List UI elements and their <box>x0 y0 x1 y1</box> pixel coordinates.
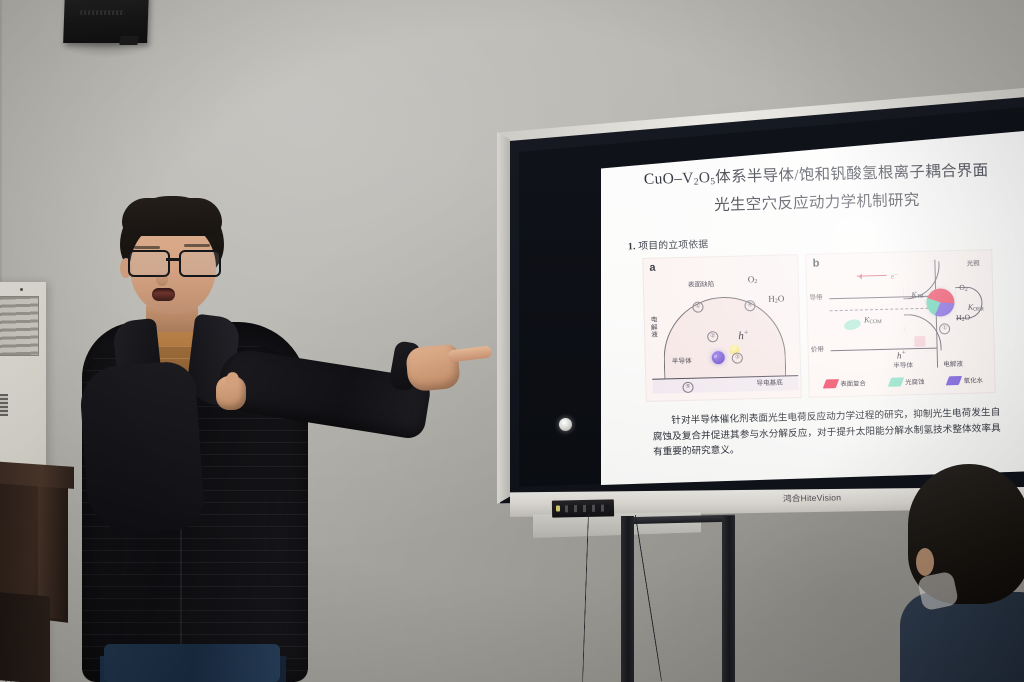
presenter-fringe <box>122 198 222 236</box>
h2o-label-a: H2O <box>768 293 784 304</box>
semiconductor-dome <box>662 295 786 381</box>
legend-item: 表面复合 <box>824 378 866 388</box>
air-conditioner-vent <box>0 296 39 356</box>
legend-item: 光腐蚀 <box>889 376 924 386</box>
k-oer-label: KOER <box>968 302 984 312</box>
figure-b-legend: 表面复合 光腐蚀 氧化水 <box>812 370 994 393</box>
k-com-label: KCOM <box>864 315 882 325</box>
section-label: 项目的立项依据 <box>638 239 708 252</box>
power-led-icon <box>556 505 560 511</box>
display-brand-logo: 鸿合HiteVision <box>783 491 841 504</box>
hole-label-b: h+ <box>897 348 907 360</box>
stand-leg-right <box>722 516 735 682</box>
legend-item: 氧化水 <box>948 375 983 385</box>
air-conditioner-badge <box>0 394 8 416</box>
presenter-jeans <box>104 644 280 682</box>
presenter-nose <box>156 272 168 286</box>
title-formula-pre: CuO–V <box>644 170 694 188</box>
hole-plus-b: + <box>901 348 906 356</box>
panel-left-side <box>497 132 510 504</box>
slide-section-heading: 1. 项目的立项依据 <box>628 236 709 252</box>
title-formula-mid: O <box>699 169 711 186</box>
glasses-bridge <box>166 258 179 261</box>
light-label: 光照 <box>967 260 980 268</box>
control-buttons[interactable] <box>565 505 609 513</box>
brand-cn: 鸿合 <box>783 493 801 503</box>
ir-sensor-icon <box>559 418 572 431</box>
figure-b-label: b <box>812 258 819 270</box>
presenter <box>76 196 336 682</box>
k-oer-sub: OER <box>973 306 984 312</box>
stand-leg-left <box>621 516 634 682</box>
legend-chip-recombination <box>823 379 839 388</box>
semiconductor-label-b: 半导体 <box>893 362 913 370</box>
speaker-grille-icon <box>80 10 124 15</box>
legend-label-photocorrosion: 光腐蚀 <box>905 376 924 385</box>
figure-b: b 导带 价带 半导体 <box>805 249 995 398</box>
audience-member <box>900 456 1024 682</box>
audience-ear <box>916 548 934 576</box>
hole-plus: + <box>744 328 749 336</box>
projected-slide: CuO–V2O5体系半导体/饱和钒酸氢根离子耦合界面 光生空穴反应动力学机制研究… <box>601 131 1024 485</box>
section-number: 1. <box>628 241 636 252</box>
semiconductor-label-a: 半导体 <box>672 358 692 366</box>
slide-title-line2: 光生空穴反应动力学机制研究 <box>714 192 920 214</box>
substrate-label: 导电基底 <box>756 379 783 387</box>
glasses-icon <box>126 250 222 274</box>
hole-label-a: h+ <box>738 328 749 342</box>
slide-title: CuO–V2O5体系半导体/饱和钒酸氢根离子耦合界面 光生空穴反应动力学机制研究 <box>630 157 1003 222</box>
step-marker-b1: ① <box>939 323 950 334</box>
figure-group: a 表面缺陷 电解液 半导体 导电基底 O2 H2O h+ e ① ② <box>642 249 995 400</box>
air-conditioner-indicator <box>20 288 23 291</box>
eyebrow-right <box>184 244 210 247</box>
conduction-band-label: 导带 <box>809 294 822 302</box>
valence-band-label: 价带 <box>811 346 824 354</box>
speaker-bracket <box>119 36 138 45</box>
o2-sub-b: 2 <box>965 287 968 293</box>
k-tr-label: KTR <box>911 290 923 300</box>
o2-sub: 2 <box>754 279 757 285</box>
recombination-blob <box>914 336 925 347</box>
presentation-room-photo: CuO–V2O5体系半导体/饱和钒酸氢根离子耦合界面 光生空穴反应动力学机制研究… <box>0 0 1024 682</box>
figure-a: a 表面缺陷 电解液 半导体 导电基底 O2 H2O h+ e ① ② <box>642 254 802 402</box>
k-tr-sub: TR <box>917 294 924 300</box>
pathway-pie-chart <box>926 288 955 317</box>
figure-a-label: a <box>649 262 655 274</box>
o2-label-b: O2 <box>959 283 968 293</box>
presenter-mouth <box>152 288 175 301</box>
podium-lower <box>0 591 50 682</box>
legend-chip-wateroxidation <box>946 375 962 384</box>
o2-label-a: O2 <box>748 274 758 285</box>
title-text-post: 体系半导体/饱和钒酸氢根离子耦合界面 <box>715 162 989 186</box>
audience-shoulders <box>900 592 1024 682</box>
presenter-left-arm <box>78 360 205 536</box>
h2o-label-b: H2O <box>956 313 970 323</box>
photocorrosion-blob <box>843 318 862 332</box>
brand-en: HiteVision <box>800 492 841 503</box>
legend-label-wateroxidation: 氧化水 <box>964 375 983 384</box>
h2o-o: O <box>778 293 785 303</box>
h2o-o-b: O <box>964 313 970 322</box>
slide-paragraph: 针对半导体催化剂表面光生电荷反应动力学过程的研究，抑制光生电荷发生自腐蚀及复合并… <box>652 405 1001 460</box>
electron-symbol: e <box>714 353 717 360</box>
eyebrow-left <box>134 246 160 249</box>
electron-label-b: e⁻ <box>891 273 898 282</box>
legend-label-recombination: 表面复合 <box>840 378 866 388</box>
display-control-panel[interactable] <box>552 499 614 517</box>
surface-defect-label: 表面缺陷 <box>688 281 715 289</box>
speaker-shadow <box>56 42 156 58</box>
electrolyte-label-b: 电解液 <box>943 361 963 369</box>
legend-chip-photocorrosion <box>888 377 904 386</box>
k-com-sub: COM <box>869 319 881 325</box>
electron-arrow-icon <box>857 275 887 277</box>
fermi-level-line <box>830 308 934 312</box>
electrolyte-label-a: 电解液 <box>651 317 662 340</box>
glasses-lens-right <box>179 250 221 277</box>
